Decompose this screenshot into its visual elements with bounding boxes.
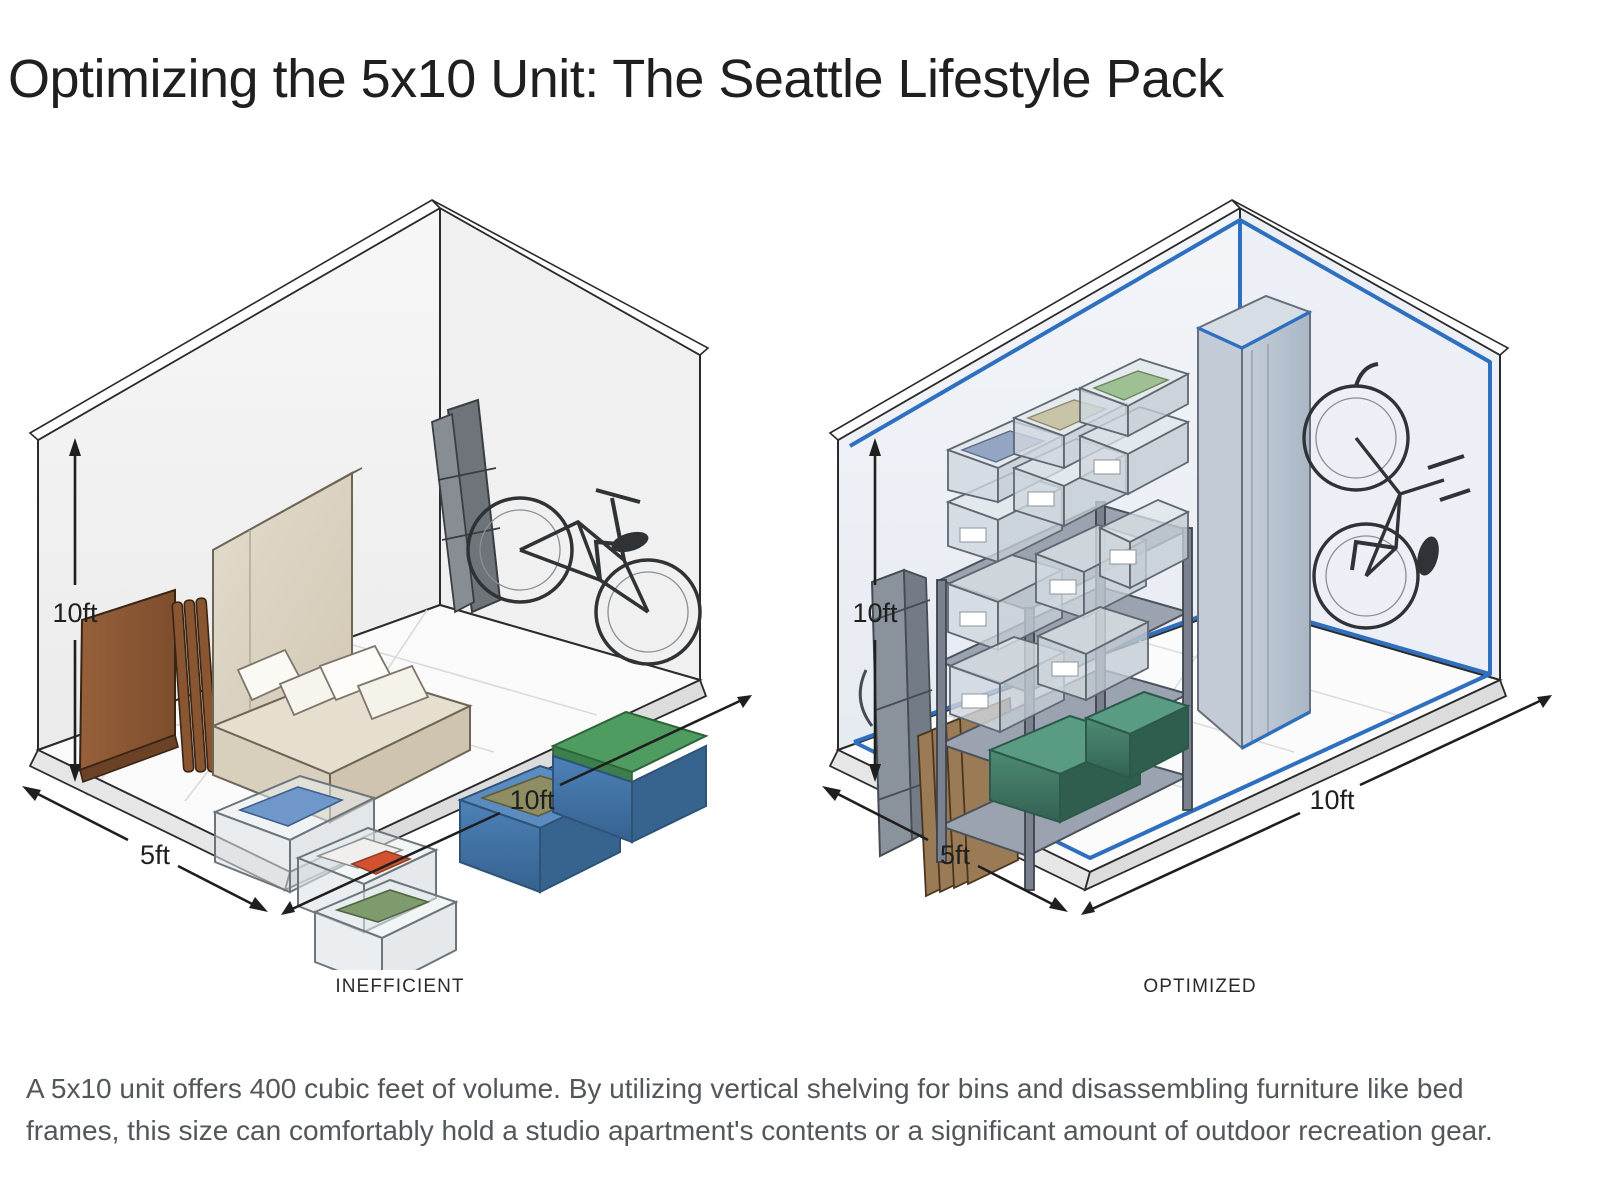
diagram-area: 10ft 5ft 10ft: [0, 150, 1600, 1050]
dimension-depth-label-right: 5ft: [940, 840, 971, 870]
dimension-width-label-left: 10ft: [509, 785, 555, 815]
figure-caption: A 5x10 unit offers 400 cubic feet of vol…: [26, 1068, 1556, 1152]
dimension-height-label-right: 10ft: [852, 598, 898, 628]
panel-inefficient: 10ft 5ft 10ft: [0, 150, 800, 1050]
dimension-width-label-right: 10ft: [1309, 785, 1355, 815]
inefficient-illustration: 10ft 5ft 10ft: [0, 150, 800, 970]
page-title: Optimizing the 5x10 Unit: The Seattle Li…: [8, 52, 1224, 106]
dimension-height-label-left: 10ft: [52, 598, 98, 628]
wooden-bed-frame-panel: [80, 590, 218, 782]
panel-caption-optimized: OPTIMIZED: [800, 976, 1600, 998]
optimized-illustration: 10ft 5ft 10ft: [800, 150, 1600, 970]
panel-optimized: 10ft 5ft 10ft: [800, 150, 1600, 1050]
dimension-depth-label-left: 5ft: [140, 840, 171, 870]
panel-caption-inefficient: INEFFICIENT: [0, 976, 800, 998]
wrapped-mattress: [1198, 296, 1310, 748]
